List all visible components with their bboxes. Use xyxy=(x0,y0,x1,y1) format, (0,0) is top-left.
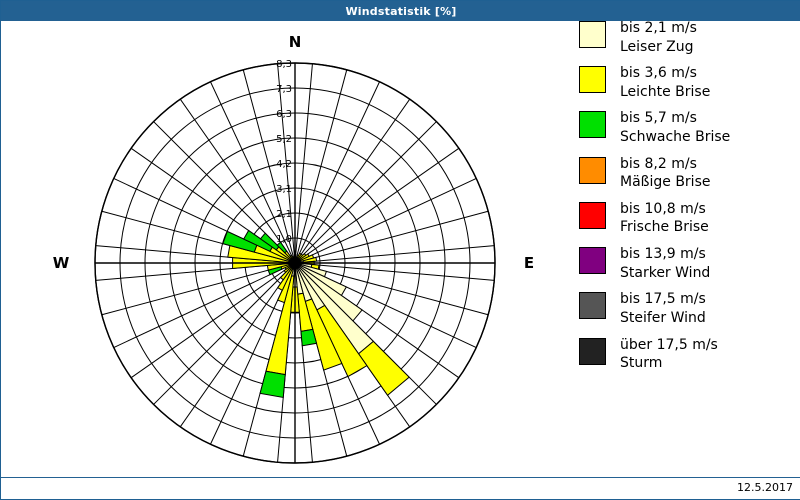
grid-spoke xyxy=(295,211,488,263)
legend-item[interactable]: bis 8,2 m/sMäßige Brise xyxy=(579,155,794,192)
legend-item[interactable]: bis 13,9 m/sStarker Wind xyxy=(579,245,794,282)
legend-beaufort-name: Frische Brise xyxy=(620,218,709,237)
legend-color-swatch xyxy=(579,21,606,48)
radial-tick-label: 1,0 xyxy=(276,234,292,245)
windrose-window: Windstatistik [%] 1,02,13,14,25,26,37,38… xyxy=(0,0,800,500)
legend-color-swatch xyxy=(579,66,606,93)
legend-label: bis 10,8 m/sFrische Brise xyxy=(620,200,709,237)
grid-spoke xyxy=(102,263,295,315)
legend-speed-range: bis 3,6 m/s xyxy=(620,65,697,81)
legend-color-swatch xyxy=(579,202,606,229)
windrose-petal-segment xyxy=(260,371,285,397)
legend-label: bis 17,5 m/sSteifer Wind xyxy=(620,290,706,327)
legend-beaufort-name: Starker Wind xyxy=(620,264,710,283)
legend-color-swatch xyxy=(579,247,606,274)
window-title: Windstatistik [%] xyxy=(345,5,456,18)
cardinal-label-east: E xyxy=(524,254,534,272)
window-titlebar: Windstatistik [%] xyxy=(1,1,800,21)
cardinal-label-west: W xyxy=(53,254,70,272)
legend-beaufort-name: Sturm xyxy=(620,354,718,373)
radial-tick-label: 4,2 xyxy=(276,159,292,170)
legend-speed-range: bis 5,7 m/s xyxy=(620,110,697,126)
legend-beaufort-name: Schwache Brise xyxy=(620,128,730,147)
cardinal-label-north: N xyxy=(289,33,302,51)
radial-tick-label: 7,3 xyxy=(276,84,292,95)
legend-item[interactable]: über 17,5 m/sSturm xyxy=(579,336,794,373)
legend-item[interactable]: bis 17,5 m/sSteifer Wind xyxy=(579,290,794,327)
legend: bis 2,1 m/sLeiser Zugbis 3,6 m/sLeichte … xyxy=(579,19,794,381)
radial-tick-label: 3,1 xyxy=(276,184,292,195)
legend-speed-range: bis 10,8 m/s xyxy=(620,201,706,217)
footer-bar: 12.5.2017 xyxy=(1,477,800,499)
radial-tick-label: 5,2 xyxy=(276,134,292,145)
legend-item[interactable]: bis 5,7 m/sSchwache Brise xyxy=(579,109,794,146)
legend-color-swatch xyxy=(579,157,606,184)
radial-tick-label: 6,3 xyxy=(276,109,292,120)
legend-beaufort-name: Mäßige Brise xyxy=(620,173,710,192)
legend-item[interactable]: bis 2,1 m/sLeiser Zug xyxy=(579,19,794,56)
grid-spoke xyxy=(295,70,347,263)
radial-tick-label: 2,1 xyxy=(276,209,292,220)
legend-color-swatch xyxy=(579,338,606,365)
grid-spoke xyxy=(295,122,436,263)
legend-beaufort-name: Leiser Zug xyxy=(620,38,697,57)
windrose-petal-segment xyxy=(266,276,294,375)
grid-spoke xyxy=(295,148,459,263)
legend-label: bis 8,2 m/sMäßige Brise xyxy=(620,155,710,192)
legend-item[interactable]: bis 3,6 m/sLeichte Brise xyxy=(579,64,794,101)
legend-color-swatch xyxy=(579,292,606,319)
legend-speed-range: bis 17,5 m/s xyxy=(620,291,706,307)
legend-speed-range: bis 13,9 m/s xyxy=(620,246,706,262)
legend-label: bis 2,1 m/sLeiser Zug xyxy=(620,19,697,56)
legend-label: bis 13,9 m/sStarker Wind xyxy=(620,245,710,282)
legend-label: bis 5,7 m/sSchwache Brise xyxy=(620,109,730,146)
date-stamp: 12.5.2017 xyxy=(737,481,793,494)
legend-label: bis 3,6 m/sLeichte Brise xyxy=(620,64,710,101)
legend-color-swatch xyxy=(579,111,606,138)
legend-speed-range: bis 8,2 m/s xyxy=(620,156,697,172)
legend-speed-range: bis 2,1 m/s xyxy=(620,20,697,36)
legend-beaufort-name: Leichte Brise xyxy=(620,83,710,102)
radial-tick-label: 8,3 xyxy=(276,59,292,70)
legend-speed-range: über 17,5 m/s xyxy=(620,337,718,353)
grid-spoke xyxy=(295,99,410,263)
legend-item[interactable]: bis 10,8 m/sFrische Brise xyxy=(579,200,794,237)
legend-label: über 17,5 m/sSturm xyxy=(620,336,718,373)
legend-beaufort-name: Steifer Wind xyxy=(620,309,706,328)
